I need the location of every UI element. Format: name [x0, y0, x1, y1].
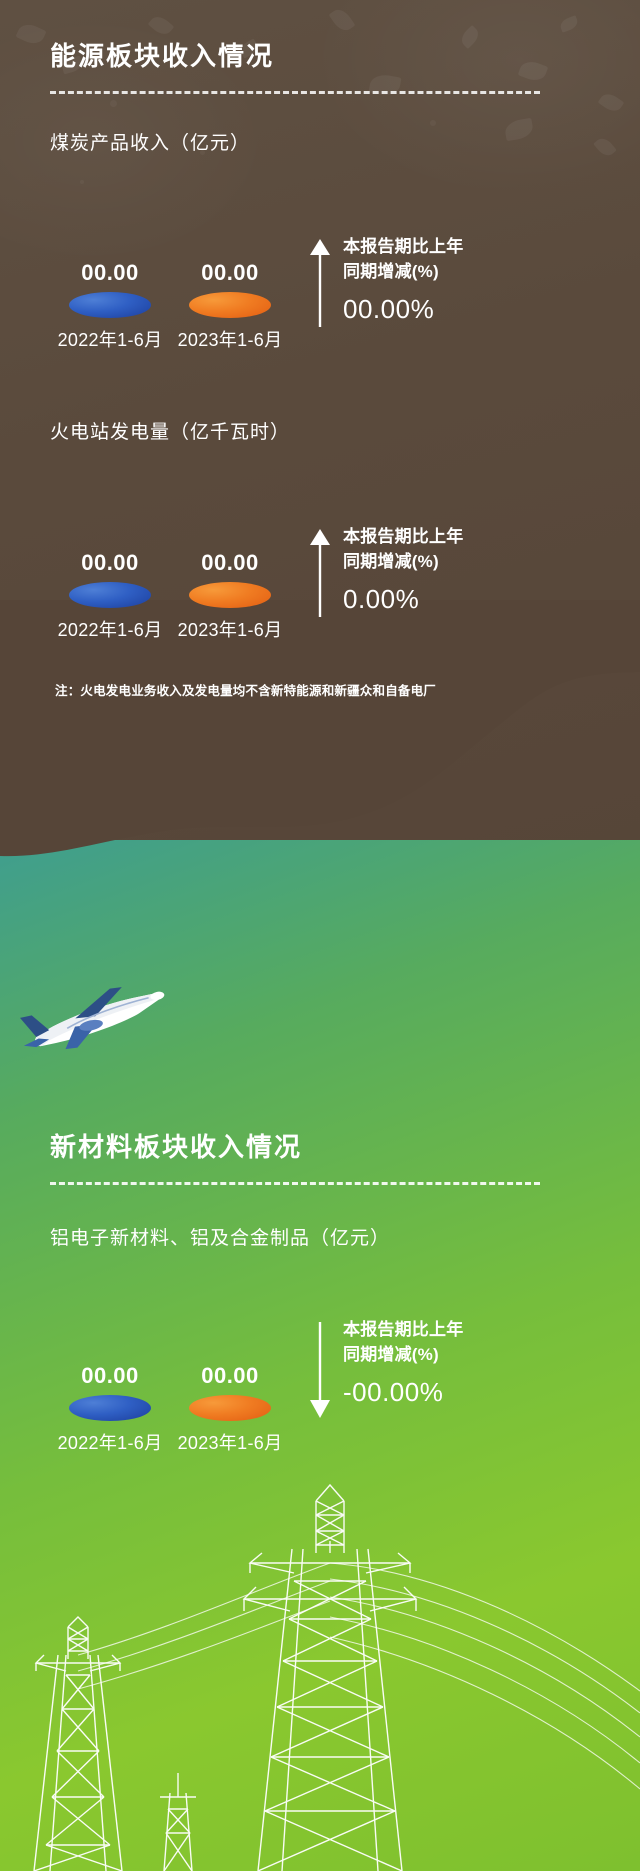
change-text-group: 本报告期比上年 同期增减(%) -00.00% — [343, 1318, 463, 1408]
leaf-decoration — [504, 118, 535, 142]
change-value: 00.00% — [343, 294, 463, 325]
leaf-decoration — [329, 6, 356, 35]
airplane-icon — [12, 985, 172, 1055]
change-label-line2: 同期增减(%) — [343, 550, 463, 575]
section-divider-wave — [0, 600, 640, 890]
bar-value: 00.00 — [45, 550, 175, 576]
bar-label: 2022年1-6月 — [45, 616, 175, 642]
bar-label: 2023年1-6月 — [165, 326, 295, 352]
energy-section-header: 能源板块收入情况 — [50, 36, 540, 94]
leaf-decoration — [558, 15, 579, 32]
bar-label: 2022年1-6月 — [45, 1429, 175, 1455]
bar-group-2022: 00.00 2022年1-6月 — [45, 1363, 175, 1455]
leaf-decoration — [598, 90, 625, 115]
arrow-up-icon — [308, 527, 332, 619]
change-label-line2: 同期增减(%) — [343, 260, 463, 285]
change-value: -00.00% — [343, 1377, 463, 1408]
dust-speck — [110, 100, 117, 107]
change-label-line1: 本报告期比上年 — [343, 525, 463, 550]
arrow-up-icon — [308, 237, 332, 329]
aluminium-products-subtitle: 铝电子新材料、铝及合金制品（亿元） — [50, 1223, 390, 1250]
arrow-column — [305, 235, 335, 329]
leaf-decoration — [148, 13, 174, 39]
dust-speck — [430, 120, 436, 126]
new-materials-section-title: 新材料板块收入情况 — [50, 1127, 540, 1164]
new-materials-section-header: 新材料板块收入情况 — [50, 1127, 540, 1185]
change-value: 0.00% — [343, 584, 463, 615]
change-label-line2: 同期增减(%) — [343, 1343, 463, 1368]
change-text-group: 本报告期比上年 同期增减(%) 00.00% — [343, 235, 463, 325]
bar-ellipse-blue — [69, 582, 151, 608]
bar-value: 00.00 — [45, 260, 175, 286]
change-label-line1: 本报告期比上年 — [343, 235, 463, 260]
energy-section-note: 注：火电发电业务收入及发电量均不含新特能源和新疆众和自备电厂 — [55, 680, 436, 699]
bar-value: 00.00 — [165, 550, 295, 576]
bar-value: 00.00 — [165, 1363, 295, 1389]
bar-ellipse-orange — [189, 582, 271, 608]
bar-ellipse-orange — [189, 1395, 271, 1421]
energy-section-title: 能源板块收入情况 — [50, 36, 540, 73]
bar-group-2023: 00.00 2023年1-6月 — [165, 260, 295, 352]
thermal-power-change-indicator: 本报告期比上年 同期增减(%) 0.00% — [305, 525, 463, 619]
bar-label: 2022年1-6月 — [45, 326, 175, 352]
leaf-decoration — [593, 135, 617, 159]
arrow-down-icon — [308, 1320, 332, 1420]
aluminium-change-indicator: 本报告期比上年 同期增减(%) -00.00% — [305, 1318, 463, 1420]
bar-ellipse-orange — [189, 292, 271, 318]
bar-group-2022: 00.00 2022年1-6月 — [45, 550, 175, 642]
bar-ellipse-blue — [69, 1395, 151, 1421]
bar-value: 00.00 — [165, 260, 295, 286]
thermal-power-subtitle: 火电站发电量（亿千瓦时） — [50, 417, 290, 444]
header-divider — [50, 1182, 540, 1185]
header-divider — [50, 91, 540, 94]
bar-group-2023: 00.00 2023年1-6月 — [165, 550, 295, 642]
dust-speck — [80, 180, 84, 184]
bar-ellipse-blue — [69, 292, 151, 318]
infographic-page: 能源板块收入情况 煤炭产品收入（亿元） 00.00 2022年1-6月 00.0… — [0, 0, 640, 1871]
bar-label: 2023年1-6月 — [165, 616, 295, 642]
bar-value: 00.00 — [45, 1363, 175, 1389]
transmission-tower-illustration — [0, 1441, 640, 1871]
bar-group-2022: 00.00 2022年1-6月 — [45, 260, 175, 352]
change-text-group: 本报告期比上年 同期增减(%) 0.00% — [343, 525, 463, 615]
bar-group-2023: 00.00 2023年1-6月 — [165, 1363, 295, 1455]
bar-label: 2023年1-6月 — [165, 1429, 295, 1455]
coal-revenue-subtitle: 煤炭产品收入（亿元） — [50, 128, 250, 155]
coal-change-indicator: 本报告期比上年 同期增减(%) 00.00% — [305, 235, 463, 329]
change-label-line1: 本报告期比上年 — [343, 1318, 463, 1343]
arrow-column — [305, 525, 335, 619]
arrow-column — [305, 1318, 335, 1420]
leaf-decoration — [15, 20, 46, 47]
